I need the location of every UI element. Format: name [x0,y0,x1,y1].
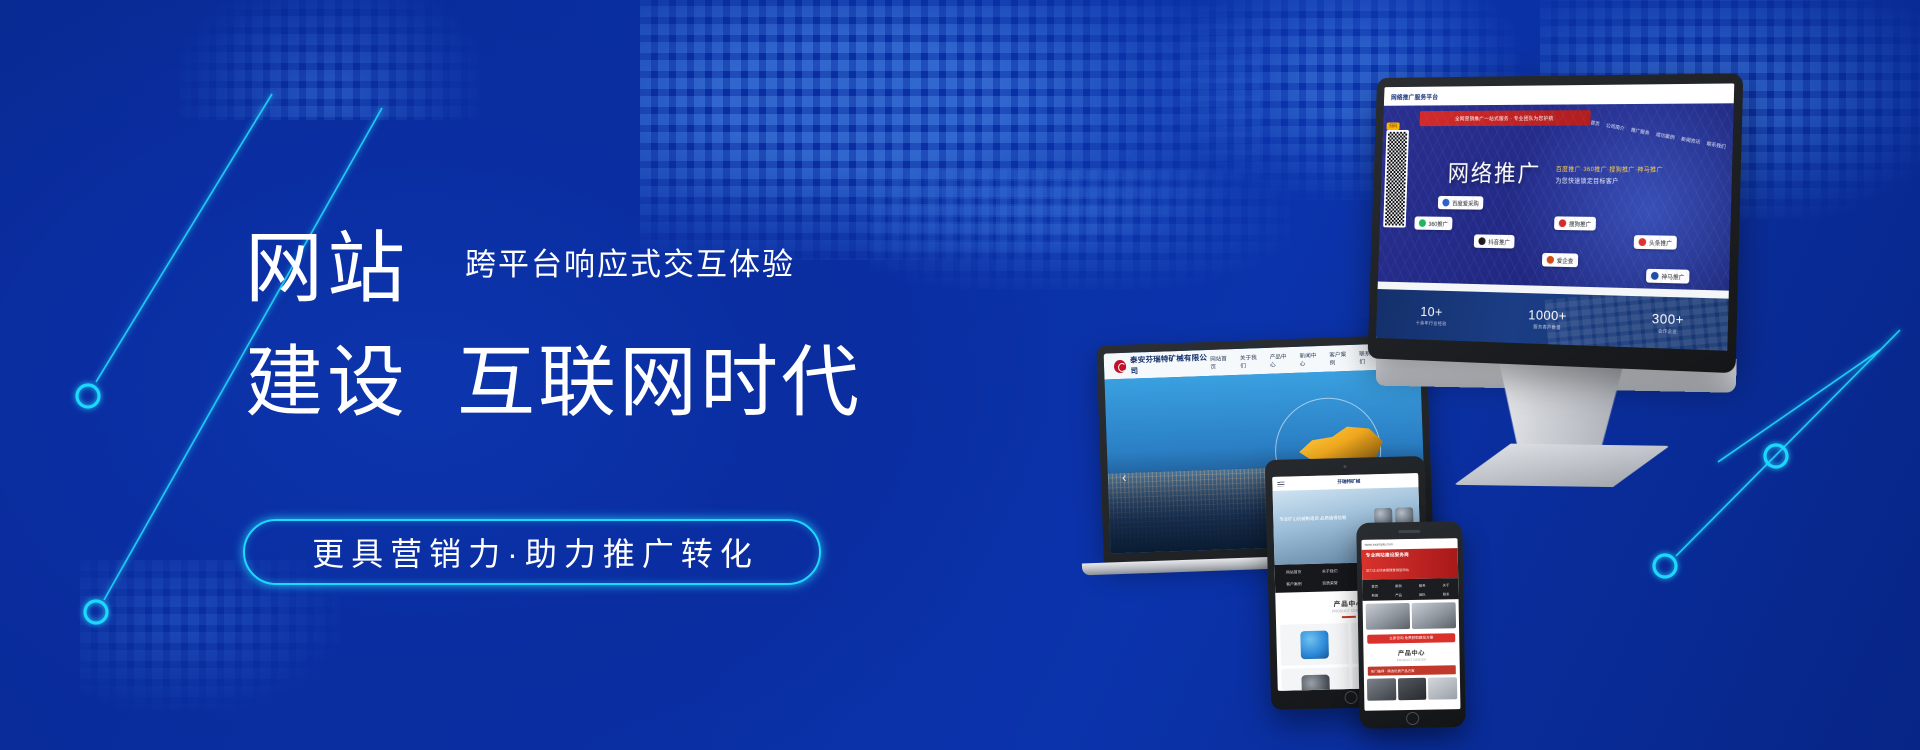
website-construction-banner: 网站 跨平台响应式交互体验 建设 互联网时代 更具营销力·助力推广转化 泰安芬瑞… [0,0,1920,750]
phone-nav-item: 首页 [1363,581,1386,589]
banner-subtitle: 跨平台响应式交互体验 [465,247,795,283]
phone-speaker-icon [1398,530,1420,533]
phone-image [1398,678,1427,700]
phone-nav-item: 联系 [1435,589,1458,597]
badge-label: 搜狗推广 [1569,219,1592,228]
headline-line-1: 网站 [245,225,409,311]
laptop-menu-item: 产品中心 [1270,352,1291,369]
phone-image-row [1364,674,1460,704]
product-image [1301,674,1330,691]
tagline-pill: 更具营销力·助力推广转化 [243,519,821,585]
tablet-menu-item: 资质荣誉 [1313,578,1347,589]
monitor-site-nav: 首页 公司简介 推广服务 成功案例 新闻资讯 联系我们 [1590,119,1727,150]
monitor-screen: 网络推广服务平台 全网营销推广一站式服务 · 专业团队为您护航 首页 公司简介 … [1376,83,1734,350]
badge-icon [1419,219,1426,227]
device-mockup-cluster: 泰安芬瑞特矿械有限公司 网站首页 关于我们 产品中心 新闻中心 客户案例 联系我… [1080,140,1840,660]
tablet-home-button [1344,691,1357,704]
phone-url-text: www.example.com [1365,542,1393,546]
service-card-desc: 定制开发 响应式设计 [1418,342,1448,348]
desktop-monitor-mockup: 网络推广服务平台 全网营销推广一站式服务 · 专业团队为您护航 首页 公司简介 … [1333,67,1742,512]
badge-icon [1547,256,1555,264]
monitor-foot [1454,443,1670,488]
phone-nav-item: 案例 [1387,581,1410,589]
monitor-site-logo: 网络推广服务平台 [1391,91,1439,101]
laptop-menu-item: 关于我们 [1240,353,1261,370]
product-cell [1281,667,1350,691]
monitor-nav-item: 成功案例 [1655,131,1675,141]
monitor-nav-item: 新闻资讯 [1680,136,1700,146]
product-cell [1280,623,1349,666]
badge-icon [1651,272,1659,280]
tagline-text: 更具营销力·助力推广转化 [305,529,759,575]
monitor-hero-sub2: 为您快速锁定目标客户 [1555,176,1618,185]
monitor-badge: 头条推广 [1634,235,1677,250]
headline-line-2: 建设 [245,339,409,425]
headline-text-block: 网站 跨平台响应式交互体验 建设 互联网时代 [245,225,885,425]
qr-code-icon [1385,132,1407,226]
phone-section-sub: PRODUCT CENTER [1364,657,1460,663]
phone-banner-title: 专业网站建设服务商 [1366,551,1454,559]
phone-mockup: www.example.com 专业网站建设服务商 助力企业快速搭建营销型网站 … [1356,521,1466,729]
monitor-hero-sub1: 百度推广·360推广·搜狗推广·神马推广 [1556,164,1663,173]
monitor-badge-group: 百度爱采购 360推广 搜狗推广 [1378,175,1732,277]
stat-label: 十余年行业经验 [1416,320,1447,327]
monitor-hero-title: 网络推广 [1447,154,1541,188]
badge-icon [1478,237,1485,245]
monitor-top-ribbon: 全网营销推广一站式服务 · 专业团队为您护航 [1420,110,1591,126]
monitor-badge: 神马推广 [1646,269,1690,284]
laptop-prev-arrow-icon: ‹ [1122,469,1127,485]
badge-label: 爱企查 [1557,256,1574,265]
laptop-company-name: 泰安芬瑞特矿械有限公司 [1130,352,1211,377]
badge-label: 百度爱采购 [1452,198,1479,207]
laptop-site-logo: 泰安芬瑞特矿械有限公司 [1114,352,1211,377]
phone-nav-item: 团队 [1411,590,1434,598]
phone-nav-grid: 首页 案例 服务 关于 新闻 产品 团队 联系 [1362,578,1458,601]
badge-icon [1559,219,1567,227]
laptop-logo-icon [1114,359,1127,372]
service-card-desc: 视觉形象 整体策划 [1571,348,1599,351]
monitor-hero: 全网营销推广一站式服务 · 专业团队为您护航 首页 公司简介 推广服务 成功案例… [1378,103,1734,290]
headline-row-2: 建设 互联网时代 [245,339,885,425]
monitor-badge: 搜狗推广 [1554,216,1596,230]
stat-item: 10+ 十余年行业经验 [1416,303,1448,327]
hamburger-menu-icon [1277,481,1284,486]
phone-thumb [1412,602,1456,629]
stat-item: 1000+ 服务客户数量 [1528,307,1567,332]
tablet-menu-item: 关于我们 [1313,566,1347,577]
phone-nav-item: 关于 [1434,580,1457,588]
stat-value: 300+ [1652,310,1685,327]
monitor-site-header: 网络推广服务平台 [1384,83,1734,105]
product-image [1300,630,1329,659]
monitor-neck [1487,355,1634,455]
monitor-frame: 网络推广服务平台 全网营销推广一站式服务 · 专业团队为您护航 首页 公司简介 … [1367,73,1743,373]
headline-right: 互联网时代 [457,339,862,425]
phone-screen: www.example.com 专业网站建设服务商 助力企业快速搭建营销型网站 … [1362,538,1461,711]
laptop-menu-item: 网站首页 [1210,354,1231,371]
stat-label: 服务客户数量 [1528,324,1567,331]
tablet-camera-icon [1343,465,1346,468]
stat-value: 10+ [1416,303,1447,319]
badge-label: 神马推广 [1661,272,1684,281]
phone-thumb-row [1363,599,1460,633]
monitor-badge: 360推广 [1414,216,1452,230]
phone-home-button [1406,712,1419,725]
headline-row-1: 网站 跨平台响应式交互体验 [245,225,885,335]
monitor-qr-tag: 扫码 [1386,122,1399,130]
monitor-nav-item: 推广服务 [1630,127,1650,137]
monitor-nav-item: 公司简介 [1605,122,1625,132]
phone-nav-item: 产品 [1387,590,1410,598]
tablet-menu-item: 客户案例 [1277,579,1311,590]
service-card-desc: 全网覆盖 精准获客 [1494,345,1521,351]
monitor-stats-bar: 10+ 十余年行业经验 1000+ 服务客户数量 300+ 合作企业 [1376,289,1729,351]
dot-cluster-1 [180,0,480,120]
phone-banner: 专业网站建设服务商 助力企业快速搭建营销型网站 [1362,548,1459,580]
phone-image [1428,677,1457,699]
phone-body: www.example.com 专业网站建设服务商 助力企业快速搭建营销型网站 … [1356,521,1466,729]
monitor-nav-item: 联系我们 [1706,140,1726,150]
stat-item: 300+ 合作企业 [1651,310,1684,335]
phone-section-title: 产品中心 [1363,647,1459,658]
tablet-hero-text: 专业矿山机械制造商 品质值得信赖 [1279,515,1346,523]
badge-icon [1638,238,1646,246]
phone-banner-sub: 助力企业快速搭建营销型网站 [1366,568,1409,573]
stat-label: 合作企业 [1651,328,1683,335]
phone-nav-item: 新闻 [1363,590,1386,598]
monitor-badge: 抖音推广 [1474,234,1515,248]
monitor-qr-code [1383,130,1409,228]
tablet-menu-item: 网站首页 [1277,567,1311,578]
phone-thumb [1366,603,1410,630]
monitor-nav-item: 首页 [1590,119,1600,127]
stat-value: 1000+ [1528,307,1567,324]
badge-icon [1442,199,1449,207]
monitor-badge: 爱企查 [1542,253,1578,267]
badge-label: 360推广 [1428,219,1448,228]
badge-label: 抖音推广 [1488,237,1510,246]
badge-label: 头条推广 [1649,238,1672,247]
tablet-site-logo: 芬瑞特矿械 [1337,479,1360,486]
laptop-menu-item: 新闻中心 [1299,351,1320,368]
phone-cta-button: 立即咨询 免费获取建站方案 [1367,633,1455,644]
phone-nav-item: 服务 [1411,581,1434,589]
phone-image [1367,678,1396,700]
monitor-badge: 百度爱采购 [1438,196,1484,210]
